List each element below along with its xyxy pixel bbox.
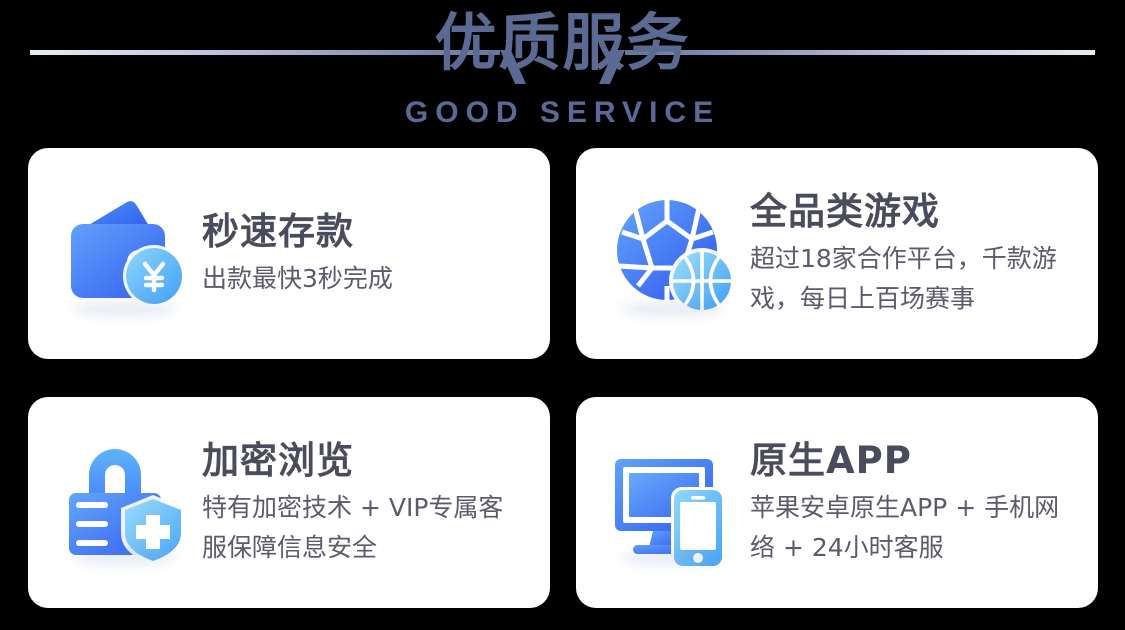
card-text-block: 全品类游戏 超过18家合作平台，千款游戏，每日上百场赛事 — [744, 189, 1076, 319]
monitor-phone-icon — [606, 434, 744, 572]
card-text-block: 原生APP 苹果安卓原生APP + 手机网络 + 24小时客服 — [744, 438, 1076, 568]
icon-shadow — [620, 301, 724, 317]
icon-shadow — [72, 550, 176, 566]
feature-card-encryption[interactable]: 加密浏览 特有加密技术 + VIP专属客服保障信息安全 — [28, 397, 550, 608]
feature-card-games[interactable]: 全品类游戏 超过18家合作平台，千款游戏，每日上百场赛事 — [576, 148, 1098, 359]
card-subtitle: 超过18家合作平台，千款游戏，每日上百场赛事 — [750, 239, 1076, 319]
icon-shadow — [620, 550, 724, 566]
feature-card-deposit[interactable]: 秒速存款 出款最快3秒完成 — [28, 148, 550, 359]
icon-shadow — [72, 301, 176, 317]
page-header: 优质服务 GOOD SERVICE — [0, 0, 1125, 140]
card-subtitle: 出款最快3秒完成 — [202, 259, 393, 299]
card-title: 加密浏览 — [202, 438, 528, 484]
card-subtitle: 特有加密技术 + VIP专属客服保障信息安全 — [202, 488, 528, 568]
service-highlights-page: 优质服务 GOOD SERVICE — [0, 0, 1125, 630]
lock-shield-icon — [58, 434, 196, 572]
card-text-block: 秒速存款 出款最快3秒完成 — [196, 209, 393, 299]
page-subtitle: GOOD SERVICE — [0, 96, 1125, 130]
card-subtitle: 苹果安卓原生APP + 手机网络 + 24小时客服 — [750, 488, 1076, 568]
ball-icon — [606, 185, 744, 323]
feature-card-grid: 秒速存款 出款最快3秒完成 — [28, 148, 1098, 608]
card-title: 原生APP — [750, 438, 1076, 484]
card-title: 全品类游戏 — [750, 189, 1076, 235]
wallet-icon — [58, 185, 196, 323]
feature-card-app[interactable]: 原生APP 苹果安卓原生APP + 手机网络 + 24小时客服 — [576, 397, 1098, 608]
page-title: 优质服务 — [0, 7, 1125, 79]
card-title: 秒速存款 — [202, 209, 393, 255]
card-text-block: 加密浏览 特有加密技术 + VIP专属客服保障信息安全 — [196, 438, 528, 568]
